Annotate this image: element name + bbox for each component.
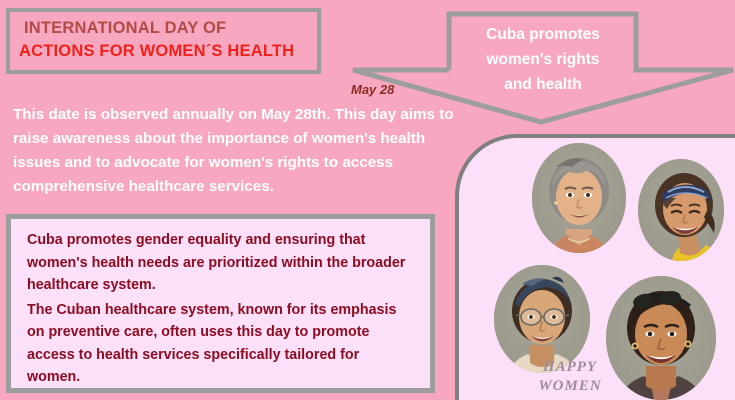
portrait-older-woman-gray-hair bbox=[532, 143, 626, 253]
callout-line-3: and health bbox=[445, 72, 641, 97]
page-title-line-1: INTERNATIONAL DAY OF bbox=[24, 17, 317, 40]
poster-canvas: INTERNATIONAL DAY OF ACTIONS FOR WOMEN´S… bbox=[0, 0, 735, 400]
callout-text: Cuba promotes women's rights and health bbox=[445, 22, 641, 97]
portrait-young-woman-headband bbox=[638, 159, 724, 261]
caption-line-2: WOMEN bbox=[505, 377, 635, 396]
date-label: May 28 bbox=[351, 82, 394, 97]
intro-paragraph: This date is observed annually on May 28… bbox=[13, 103, 475, 199]
callout-line-1: Cuba promotes bbox=[445, 22, 641, 47]
callout-line-2: women's rights bbox=[445, 47, 641, 72]
info-paragraph-1: Cuba promotes gender equality and ensuri… bbox=[27, 229, 416, 297]
page-title-line-2: ACTIONS FOR WOMEN´S HEALTH bbox=[19, 40, 317, 63]
portrait-woman-glasses-bandana bbox=[494, 265, 590, 373]
info-paragraph-2: The Cuban healthcare system, known for i… bbox=[27, 299, 416, 389]
happy-women-caption: HAPPY WOMEN bbox=[505, 358, 635, 396]
title-box: INTERNATIONAL DAY OF ACTIONS FOR WOMEN´S… bbox=[6, 8, 321, 74]
info-box: Cuba promotes gender equality and ensuri… bbox=[6, 214, 435, 393]
caption-line-1: HAPPY bbox=[505, 358, 635, 377]
